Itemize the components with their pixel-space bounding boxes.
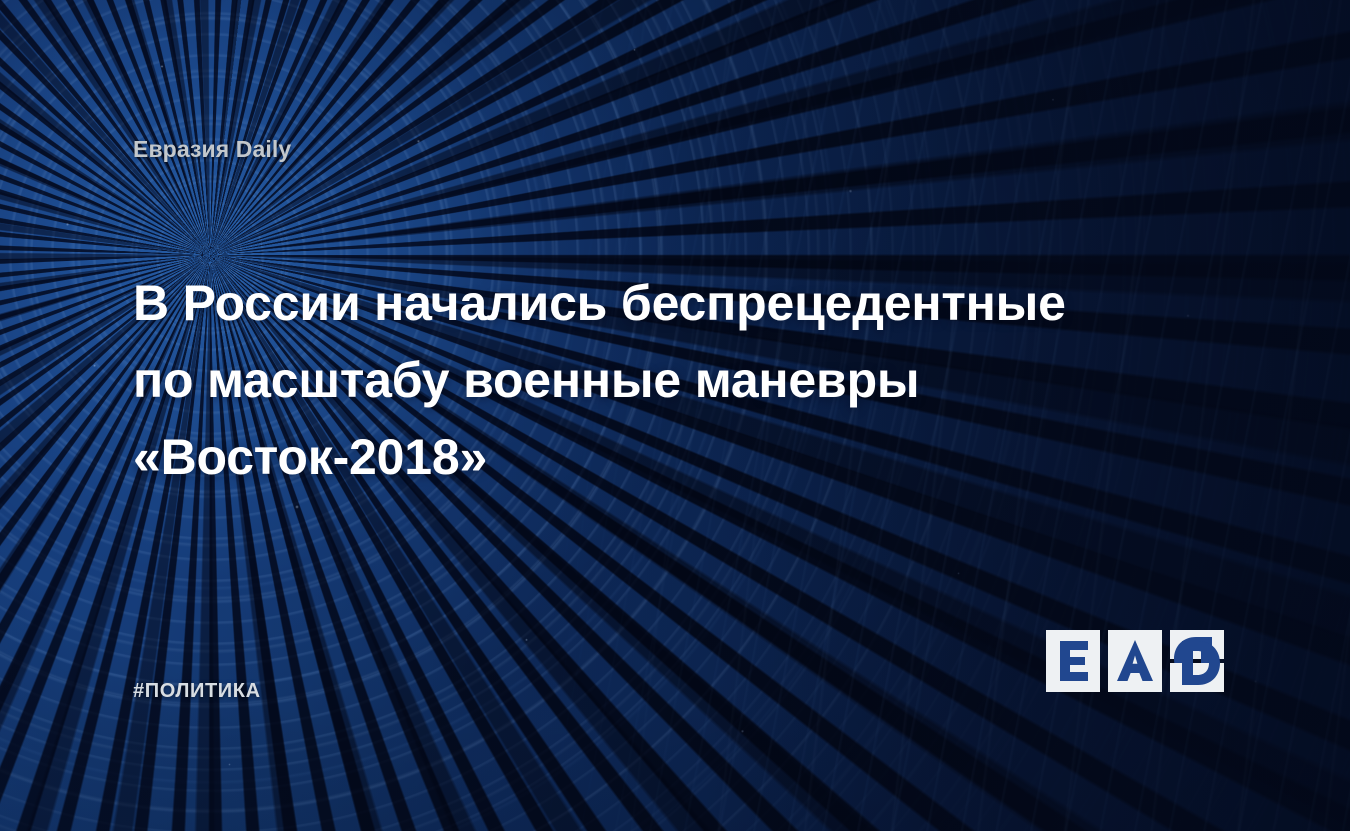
logo-letter-d-icon: [1170, 663, 1224, 692]
logo-tile-a: [1108, 630, 1162, 692]
logo-letter-a-icon: [1108, 630, 1162, 692]
site-brand-name[interactable]: Евразия Daily: [133, 136, 291, 163]
headline-line-1: В России начались беспрецедентные: [133, 265, 1173, 342]
logo-letter-e-icon: [1046, 630, 1100, 692]
eadaily-logo[interactable]: [1046, 630, 1224, 692]
page-title: В России начались беспрецедентные по мас…: [133, 265, 1173, 496]
topic-hashtag[interactable]: #ПОЛИТИКА: [133, 680, 261, 703]
logo-tile-e: [1046, 630, 1100, 692]
logo-tile-d: [1170, 630, 1224, 692]
headline-line-3: «Восток-2018»: [133, 419, 1173, 496]
card-content: Евразия Daily В России начались беспреце…: [0, 0, 1350, 831]
headline-line-2: по масштабу военные маневры: [133, 342, 1173, 419]
news-card: Евразия Daily В России начались беспреце…: [0, 0, 1350, 831]
logo-letter-d-bottom-half: [1170, 663, 1224, 692]
